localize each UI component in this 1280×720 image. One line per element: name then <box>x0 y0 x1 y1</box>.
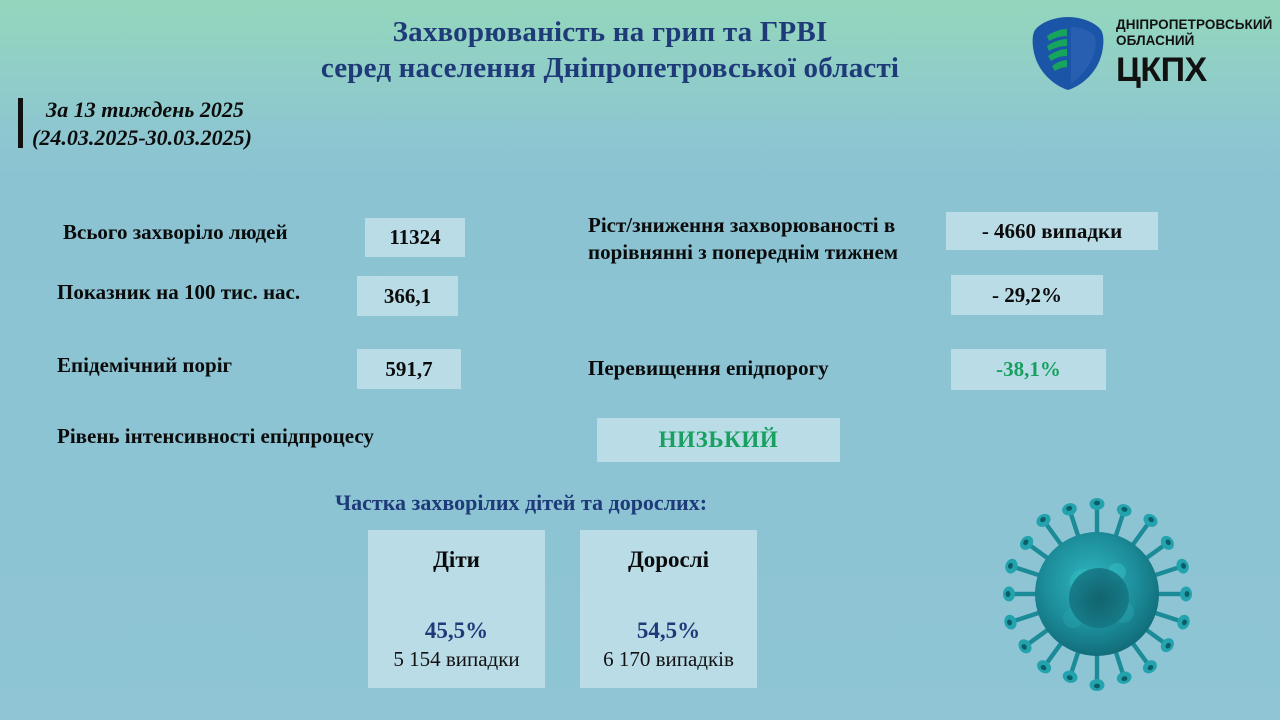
logo-line-2: ОБЛАСНИЙ <box>1116 33 1268 49</box>
share-card-children-name: Діти <box>368 547 545 573</box>
intensity-level-label: Рівень інтенсивності епідпроцесу <box>57 423 374 450</box>
page-title: Захворюваність на грип та ГРВІ серед нас… <box>210 14 1010 86</box>
share-card-adults: Дорослі 54,5% 6 170 випадків <box>580 530 757 688</box>
weekly-change-cases-value: - 4660 випадки <box>946 212 1158 250</box>
logo-line-3: ЦКПХ <box>1116 51 1268 89</box>
share-card-adults-name: Дорослі <box>580 547 757 573</box>
logo-line-1: ДНІПРОПЕТРОВСЬКИЙ <box>1116 17 1268 33</box>
organization-logo: ДНІПРОПЕТРОВСЬКИЙ ОБЛАСНИЙ ЦКПХ <box>1030 12 1268 92</box>
share-card-adults-percent: 54,5% <box>580 618 757 644</box>
infographic-slide: Захворюваність на грип та ГРВІ серед нас… <box>0 0 1280 720</box>
total-cases-value: 11324 <box>365 218 465 257</box>
rate-per-100k-label: Показник на 100 тис. нас. <box>57 279 300 306</box>
intensity-level-badge: НИЗЬКИЙ <box>597 418 840 462</box>
reporting-period: За 13 тиждень 2025 (24.03.2025-30.03.202… <box>18 96 252 152</box>
epidemic-threshold-value: 591,7 <box>357 349 461 389</box>
share-card-children-cases: 5 154 випадки <box>368 647 545 672</box>
shield-icon <box>1030 14 1106 92</box>
total-cases-label: Всього захворіло людей <box>63 219 288 246</box>
period-line-1: За 13 тиждень 2025 <box>32 96 252 124</box>
epidemic-threshold-label: Епідемічний поріг <box>57 352 232 379</box>
share-card-children-percent: 45,5% <box>368 618 545 644</box>
virus-illustration <box>985 490 1215 705</box>
title-line-2: серед населення Дніпропетровської област… <box>210 50 1010 86</box>
rate-per-100k-value: 366,1 <box>357 276 458 316</box>
threshold-excess-label: Перевищення епідпорогу <box>588 355 829 382</box>
logo-text: ДНІПРОПЕТРОВСЬКИЙ ОБЛАСНИЙ ЦКПХ <box>1116 17 1268 89</box>
period-line-2: (24.03.2025-30.03.2025) <box>32 124 252 152</box>
threshold-excess-value: -38,1% <box>951 349 1106 390</box>
weekly-change-percent-value: - 29,2% <box>951 275 1103 315</box>
title-line-1: Захворюваність на грип та ГРВІ <box>393 16 828 48</box>
weekly-change-label: Ріст/зниження захворюваності в порівнянн… <box>588 212 918 266</box>
share-card-children: Діти 45,5% 5 154 випадки <box>368 530 545 688</box>
share-section-title: Частка захворілих дітей та дорослих: <box>335 490 707 516</box>
share-card-adults-cases: 6 170 випадків <box>580 647 757 672</box>
